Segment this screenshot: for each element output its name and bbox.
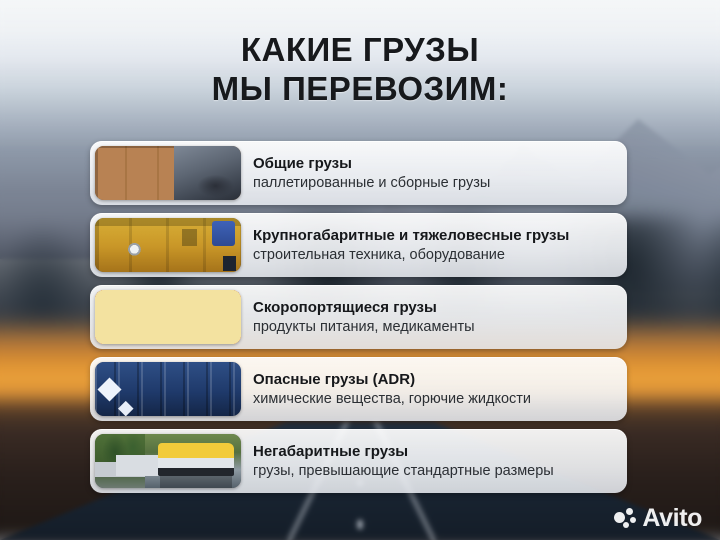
list-item[interactable]: Крупногабаритные и тяжеловесные грузы ст…	[90, 213, 627, 277]
cargo-type-list: Общие грузы паллетированные и сборные гр…	[90, 141, 627, 493]
list-item-text: Крупногабаритные и тяжеловесные грузы ст…	[253, 226, 569, 265]
list-item-title: Негабаритные грузы	[253, 442, 554, 461]
list-item-text: Общие грузы паллетированные и сборные гр…	[253, 154, 490, 193]
cargo-thumbnail-perishable	[95, 290, 241, 344]
page-title-line-2: МЫ ПЕРЕВОЗИМ:	[0, 69, 720, 108]
list-item-text: Опасные грузы (ADR) химические вещества,…	[253, 370, 531, 409]
list-item-subtitle: химические вещества, горючие жидкости	[253, 390, 531, 409]
list-item[interactable]: Скоропортящиеся грузы продукты питания, …	[90, 285, 627, 349]
list-item-subtitle: паллетированные и сборные грузы	[253, 174, 490, 193]
list-item[interactable]: Негабаритные грузы грузы, превышающие ст…	[90, 429, 627, 493]
list-item-title: Скоропортящиеся грузы	[253, 298, 475, 317]
page-title: КАКИЕ ГРУЗЫ МЫ ПЕРЕВОЗИМ:	[0, 30, 720, 108]
list-item-subtitle: строительная техника, оборудование	[253, 246, 569, 265]
list-item[interactable]: Опасные грузы (ADR) химические вещества,…	[90, 357, 627, 421]
list-item[interactable]: Общие грузы паллетированные и сборные гр…	[90, 141, 627, 205]
avito-dots-logo-icon	[614, 508, 636, 530]
list-item-title: Общие грузы	[253, 154, 490, 173]
cargo-thumbnail-general	[95, 146, 241, 200]
cargo-thumbnail-oversized-heavy	[95, 218, 241, 272]
cargo-thumbnail-outsized	[95, 434, 241, 488]
list-item-title: Крупногабаритные и тяжеловесные грузы	[253, 226, 569, 245]
list-item-subtitle: грузы, превышающие стандартные размеры	[253, 462, 554, 481]
avito-wordmark: Avito	[642, 506, 702, 531]
list-item-title: Опасные грузы (ADR)	[253, 370, 531, 389]
list-item-text: Негабаритные грузы грузы, превышающие ст…	[253, 442, 554, 481]
cargo-thumbnail-dangerous-adr	[95, 362, 241, 416]
list-item-subtitle: продукты питания, медикаменты	[253, 318, 475, 337]
avito-watermark: Avito	[614, 506, 702, 531]
page-title-line-1: КАКИЕ ГРУЗЫ	[0, 30, 720, 69]
list-item-text: Скоропортящиеся грузы продукты питания, …	[253, 298, 475, 337]
